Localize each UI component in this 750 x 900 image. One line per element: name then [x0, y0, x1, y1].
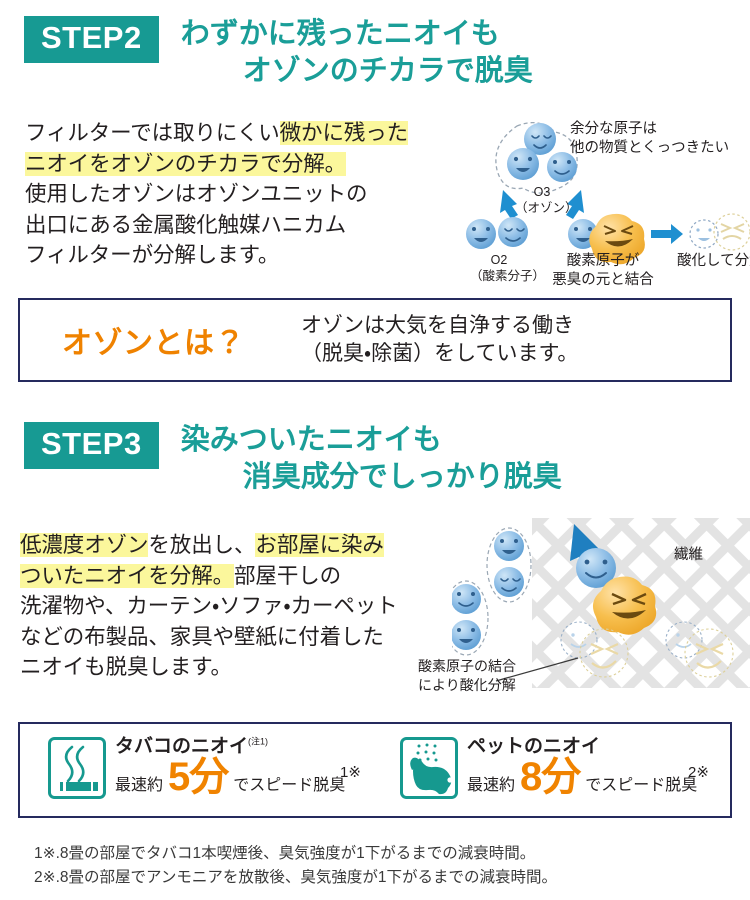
o2-formula: O2	[470, 252, 528, 268]
oxidize-label: 酸化して分解	[677, 252, 750, 271]
speed-stats-box: タバコのニオイ(注1) 最速約 5分 でスピード脱臭 1※	[18, 722, 732, 818]
infographic-page: STEP2 わずかに残ったニオイも オゾンのチカラで脱臭 フィルターでは取りにく…	[0, 0, 750, 900]
bind-label-line2: 悪臭の元と結合	[549, 271, 657, 290]
stat-pet-number: 8分	[520, 759, 580, 795]
ozone-callout-line1: 余分な原子は	[570, 120, 729, 139]
stat-tobacco-name-text: タバコのニオイ	[115, 736, 248, 757]
stat-tobacco-line: 最速約 5分 でスピード脱臭	[115, 759, 345, 795]
dog-icon	[400, 737, 458, 804]
oxidize-arrow	[651, 224, 683, 244]
step2-line1-plain: フィルターでは取りにくい	[25, 121, 280, 145]
step3-body-line2: ついたニオイを分解。部屋干しの	[20, 561, 480, 592]
step3-body-line4: などの布製品、家具や壁紙に付着した	[20, 622, 480, 653]
bind-label: 酸素原子が 悪臭の元と結合	[549, 252, 657, 290]
stat-tobacco-ref: 1※	[340, 763, 361, 781]
oxidized-remains	[690, 214, 750, 250]
stat-tobacco-suffix: でスピード脱臭	[233, 771, 345, 795]
cigarette-icon	[48, 737, 106, 804]
step2-body-line1: フィルターでは取りにくい微かに残った	[25, 118, 495, 149]
step2-line1-highlight: 微かに残った	[280, 121, 408, 145]
ozone-callout-line2: 他の物質とくっつきたい	[570, 139, 729, 158]
o3-sublabel: （オゾン）	[515, 200, 569, 216]
stat-pet-text: ペットのニオイ 最速約 8分 でスピード脱臭	[467, 737, 697, 796]
oxidation-note-line1: 酸素原子の結合	[418, 657, 516, 676]
ozone-pair-a	[487, 528, 531, 602]
stat-pet-suffix: でスピード脱臭	[585, 771, 697, 795]
step2-body-line5: フィルターが分解します。	[25, 240, 495, 271]
o3-formula: O3	[515, 184, 569, 200]
step3-line1-plain: を放出し、	[148, 533, 255, 557]
stat-tobacco-text: タバコのニオイ(注1) 最速約 5分 でスピード脱臭	[115, 737, 345, 796]
step3-line1-highlight-a: 低濃度オゾン	[20, 533, 148, 557]
stat-pet: ペットのニオイ 最速約 8分 でスピード脱臭 2※	[400, 737, 730, 804]
step2-header: STEP2 わずかに残ったニオイも オゾンのチカラで脱臭	[24, 16, 533, 90]
stat-pet-ref: 2※	[688, 763, 709, 781]
footnote-2: 2※.8畳の部屋でアンモニアを放散後、臭気強度が1下がるまでの減衰時間。	[34, 866, 557, 890]
stat-pet-name: ペットのニオイ	[467, 737, 697, 758]
step2-body-line4: 出口にある金属酸化触媒ハニカム	[25, 210, 495, 241]
step3-badge: STEP3	[24, 422, 159, 469]
step2-body-text: フィルターでは取りにくい微かに残った ニオイをオゾンのチカラで分解。 使用したオ…	[25, 118, 495, 271]
step3-header: STEP3 染みついたニオイも 消臭成分でしっかり脱臭	[24, 422, 562, 496]
step3-line2-highlight: ついたニオイを分解。	[20, 564, 234, 588]
bind-label-line1: 酸素原子が	[549, 252, 657, 271]
step3-line2-plain: 部屋干しの	[234, 564, 341, 588]
o3-atom-left	[507, 148, 539, 180]
ozone-answer: オゾンは大気を自浄する働き （脱臭・除菌）をしています。	[301, 312, 578, 368]
stat-tobacco-number: 5分	[168, 759, 228, 795]
oxidation-note-line2: により酸化分解	[418, 676, 516, 695]
o2-sublabel: （酸素分子）	[470, 268, 528, 284]
step2-title-line2: オゾンのチカラで脱臭	[181, 53, 533, 90]
step2-body-line3: 使用したオゾンはオゾンユニットの	[25, 179, 495, 210]
step3-title: 染みついたニオイも 消臭成分でしっかり脱臭	[181, 422, 562, 496]
step3-body-line3: 洗濯物や、カーテン・ソファ・カーペット	[20, 591, 480, 622]
fiber-label: 繊維	[674, 546, 703, 565]
ozone-pair-b	[452, 581, 488, 655]
step3-title-line1: 染みついたニオイも	[181, 424, 442, 456]
o2-label: O2 （酸素分子）	[470, 252, 528, 285]
ozone-answer-line1: オゾンは大気を自浄する働き	[301, 312, 578, 340]
step2-title: わずかに残ったニオイも オゾンのチカラで脱臭	[181, 16, 533, 90]
step3-body-line5: ニオイも脱臭します。	[20, 652, 480, 683]
o3-label: O3 （オゾン）	[515, 184, 569, 217]
stat-pet-prefix: 最速約	[467, 771, 515, 795]
step3-title-line2: 消臭成分でしっかり脱臭	[181, 459, 562, 496]
step2-line2-highlight: ニオイをオゾンのチカラで分解。	[25, 152, 346, 176]
footnote-1: 1※.8畳の部屋でタバコ1本喫煙後、臭気強度が1下がるまでの減衰時間。	[34, 842, 557, 866]
o2-atom-b	[498, 217, 528, 247]
step3-body-line1: 低濃度オゾンを放出し、お部屋に染み	[20, 530, 480, 561]
o2-atom-a	[466, 219, 496, 249]
stat-pet-name-text: ペットのニオイ	[467, 736, 600, 757]
step3-body-text: 低濃度オゾンを放出し、お部屋に染み ついたニオイを分解。部屋干しの 洗濯物や、カ…	[20, 530, 480, 683]
stat-tobacco: タバコのニオイ(注1) 最速約 5分 でスピード脱臭 1※	[48, 737, 378, 804]
oxidation-note: 酸素原子の結合 により酸化分解	[418, 657, 516, 695]
step2-title-line1: わずかに残ったニオイも	[181, 18, 500, 50]
step2-body-line2: ニオイをオゾンのチカラで分解。	[25, 149, 495, 180]
stat-tobacco-name: タバコのニオイ(注1)	[115, 737, 345, 758]
stat-tobacco-sup: (注1)	[248, 736, 268, 746]
ozone-callout: 余分な原子は 他の物質とくっつきたい	[570, 120, 729, 158]
ozone-definition-box: オゾンとは？ オゾンは大気を自浄する働き （脱臭・除菌）をしています。	[18, 298, 732, 382]
footnotes: 1※.8畳の部屋でタバコ1本喫煙後、臭気強度が1下がるまでの減衰時間。 2※.8…	[34, 842, 557, 890]
ozone-reaction-diagram: 余分な原子は 他の物質とくっつきたい O3 （オゾン） O2 （酸素分子） 酸素…	[455, 112, 750, 287]
stat-pet-line: 最速約 8分 でスピード脱臭	[467, 759, 697, 795]
step2-badge: STEP2	[24, 16, 159, 63]
stat-tobacco-prefix: 最速約	[115, 771, 163, 795]
ozone-answer-line2: （脱臭・除菌）をしています。	[301, 340, 578, 368]
step3-line1-highlight-b: お部屋に染み	[255, 533, 383, 557]
ozone-question: オゾンとは？	[62, 318, 245, 362]
